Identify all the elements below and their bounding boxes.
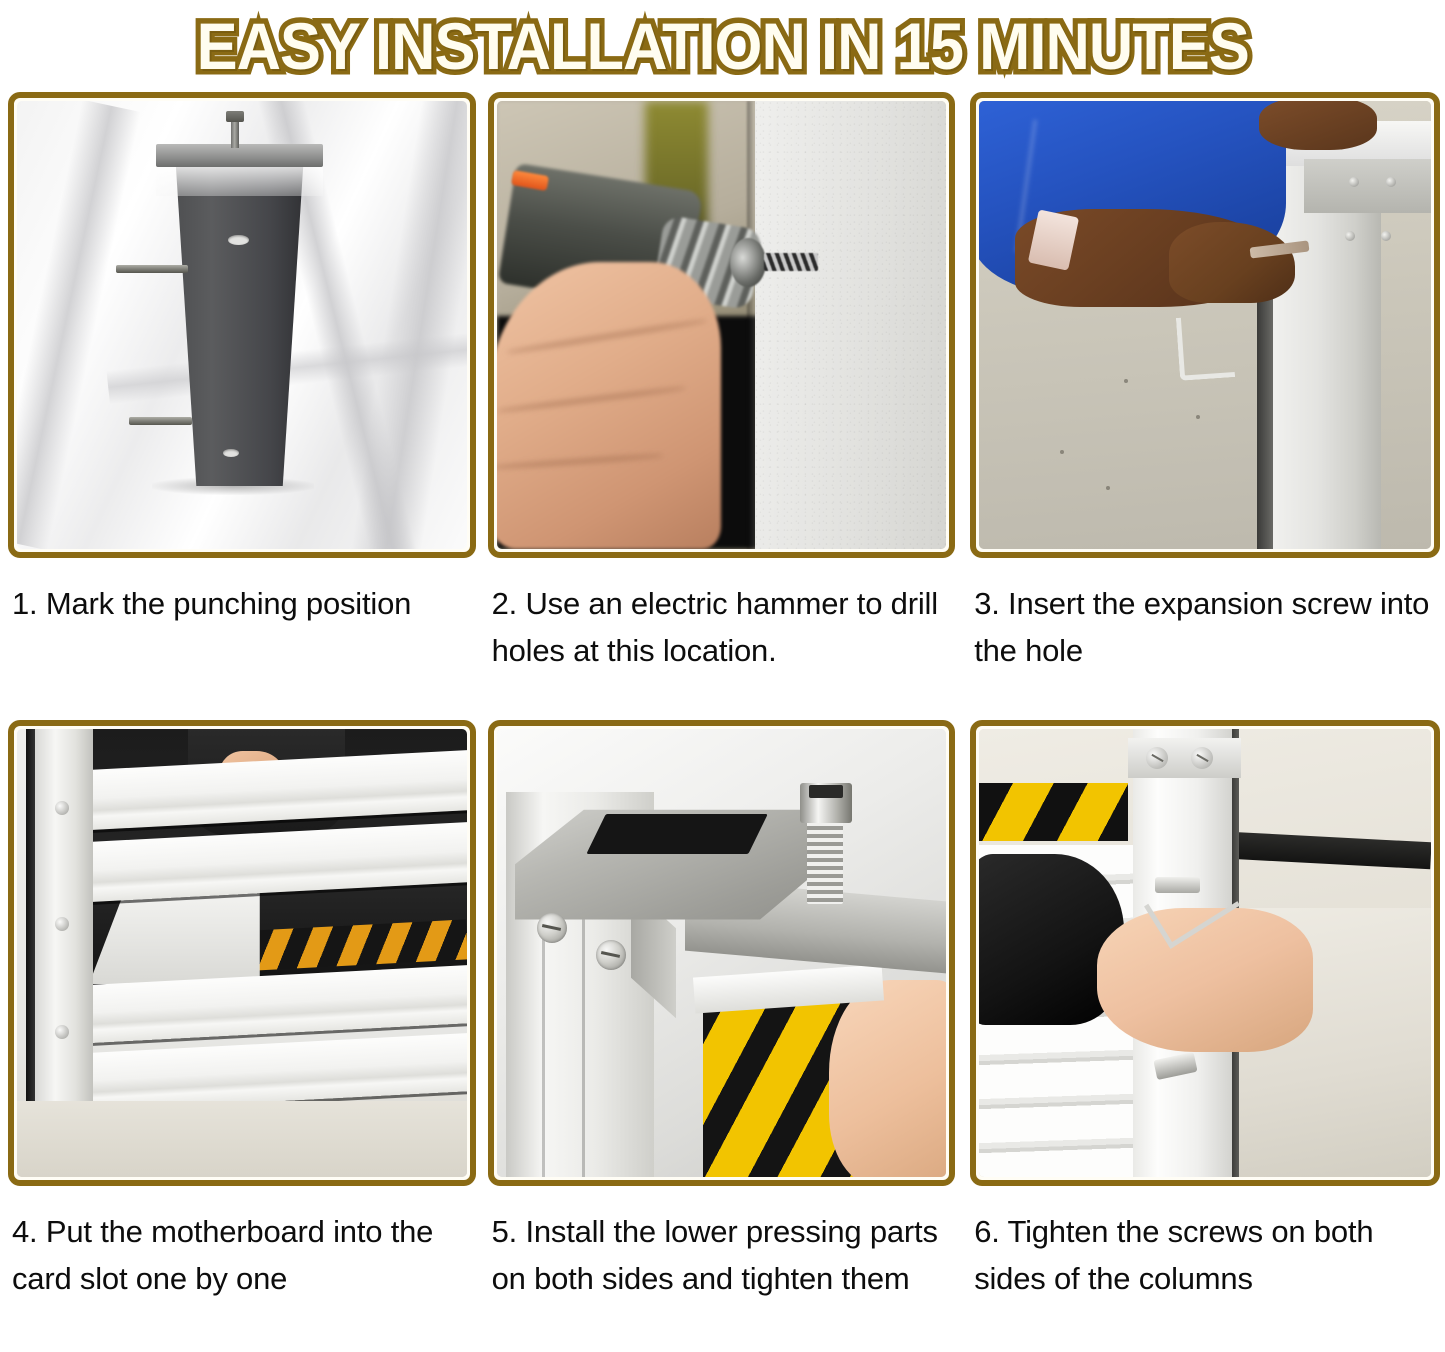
step-3-photo-frame [970, 92, 1440, 558]
step-card-2: 2. Use an electric hammer to drill holes… [482, 92, 964, 720]
step-6-tighten-screws-photo [979, 729, 1431, 1177]
step-5-caption: 5. Install the lower pressing parts on b… [488, 1186, 956, 1340]
mounting-hole-lower [223, 449, 239, 457]
column-screw [55, 801, 69, 815]
step-5-lower-pressing-parts-photo [497, 729, 947, 1177]
step-1-caption: 1. Mark the punching position [8, 558, 476, 720]
installation-steps-grid: 1. Mark the punching position [0, 92, 1445, 1340]
floor [17, 1101, 467, 1177]
column-screw [1146, 747, 1168, 769]
bolt-thread [807, 814, 843, 904]
mounting-hole-upper [228, 235, 249, 245]
drill-nose [730, 238, 766, 287]
cloth-fold [17, 101, 141, 549]
step-2-drill-holes-photo [497, 101, 947, 549]
hazard-stripe-tape [979, 783, 1128, 841]
step-5-photo-frame [488, 720, 956, 1186]
steps-row-bottom: 4. Put the motherboard into the card slo… [0, 720, 1445, 1340]
column-post [170, 159, 309, 486]
column-screw [55, 917, 69, 931]
step-card-4: 4. Put the motherboard into the card slo… [0, 720, 482, 1340]
step-3-insert-expansion-screw-photo [979, 101, 1431, 549]
column-screw [1386, 177, 1396, 187]
bracket-slot-hole [586, 814, 768, 854]
step-3-caption: 3. Insert the expansion screw into the h… [970, 558, 1440, 720]
page-title: EASY INSTALLATION IN 15 MINUTES [193, 12, 1253, 80]
column-screw [55, 1025, 69, 1039]
step-2-caption: 2. Use an electric hammer to drill holes… [488, 558, 956, 720]
wall-edge [747, 101, 755, 549]
column-screw [1345, 231, 1355, 241]
top-bolt-nut [226, 111, 245, 123]
step-1-mark-punching-position-photo [17, 101, 467, 549]
step-card-1: 1. Mark the punching position [0, 92, 482, 720]
second-hand [1259, 101, 1376, 150]
column-cap-plate [156, 144, 322, 167]
floor-speck [1106, 486, 1110, 490]
step-1-photo-frame [8, 92, 476, 558]
bracket-screw [596, 940, 626, 970]
step-6-photo-frame [970, 720, 1440, 1186]
step-6-caption: 6. Tighten the screws on both sides of t… [970, 1186, 1440, 1340]
step-4-photo-frame [8, 720, 476, 1186]
side-bolt-lower [129, 417, 192, 426]
side-bolt-upper [116, 265, 188, 274]
step-4-caption: 4. Put the motherboard into the card slo… [8, 1186, 476, 1340]
column-cap-edge [156, 165, 322, 196]
step-4-install-boards-photo [17, 729, 467, 1177]
cloth-fold [348, 101, 467, 549]
wrench-head [1155, 877, 1200, 893]
allen-wrench [1176, 314, 1235, 381]
column-top-cap [1128, 738, 1241, 778]
step-card-3: 3. Insert the expansion screw into the h… [963, 92, 1445, 720]
floor-speck [1124, 379, 1128, 383]
textured-wall [755, 101, 946, 549]
header-banner: EASY INSTALLATION IN 15 MINUTES [0, 0, 1445, 92]
step-card-6: 6. Tighten the screws on both sides of t… [963, 720, 1445, 1340]
steps-row-top: 1. Mark the punching position [0, 92, 1445, 720]
drill-bit [764, 253, 818, 271]
bolt-socket [809, 785, 843, 798]
step-2-photo-frame [488, 92, 956, 558]
floor-speck [1196, 415, 1200, 419]
step-card-5: 5. Install the lower pressing parts on b… [482, 720, 964, 1340]
hand [829, 980, 946, 1177]
hand [1097, 908, 1314, 1051]
bracket-screw [537, 913, 567, 943]
column-screw [1381, 231, 1391, 241]
column-side-plate [1304, 159, 1430, 213]
